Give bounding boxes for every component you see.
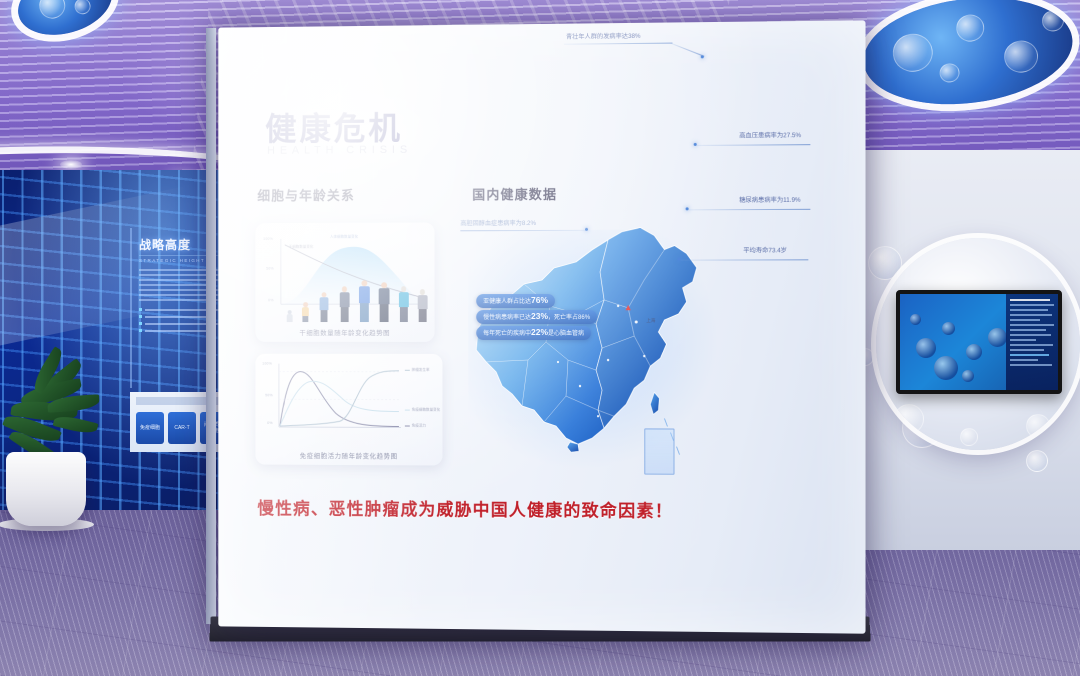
map-city-label: 上海: [646, 318, 655, 324]
callout-leader-line: [564, 43, 673, 45]
figure-elderly: [416, 289, 429, 322]
exhibit-board: 健康危机 HEALTH CRISIS 细胞与年龄关系 国内健康数据: [218, 20, 865, 633]
callout-top-incidence: 青壮年人群的发病率达38%: [566, 31, 641, 41]
callout-anchor-dot: [686, 207, 689, 210]
callout-anchor-dot: [585, 228, 588, 231]
legend-swatch-icon: [405, 425, 410, 427]
figure-senior: [397, 286, 410, 322]
chart2-ytick-2: 0%: [267, 421, 272, 425]
chart2-ytick-0: 100%: [262, 362, 272, 366]
exhibition-hall-photo: 战略高度 STRATEGIC HEIGHT 免疫细胞 CAR-T 间充质干细胞: [0, 0, 1080, 676]
callout-lifespan: 平均寿命73.4岁: [743, 245, 787, 254]
chart2-legend-1: 免疫细胞数量变化: [405, 408, 440, 413]
callout-anchor-dot: [694, 143, 697, 146]
page-subtitle: HEALTH CRISIS: [267, 144, 412, 157]
figure-youth: [338, 286, 351, 322]
callout-leader-line: [670, 43, 704, 57]
plant-pot: [6, 452, 86, 526]
south-china-sea-inset: [644, 428, 674, 474]
section-heading-health-data: 国内健康数据: [472, 184, 557, 203]
section-heading-cell-age: 细胞与年龄关系: [257, 185, 355, 204]
callout-hypertension: 高血压患病率为27.5%: [739, 130, 801, 140]
callout-anchor-dot: [678, 258, 681, 261]
callout-diabetes: 糖尿病患病率为11.9%: [739, 195, 800, 204]
left-tile-0: 免疫细胞: [136, 412, 164, 444]
callout-leader-line: [697, 144, 811, 146]
figure-infant: [285, 310, 294, 322]
china-map: 上海 亚健康人群占比达76% 慢性病患病率已达23%，死亡率占86% 每年死亡的…: [458, 209, 729, 491]
chart1-ytick-1: 50%: [266, 267, 274, 271]
wall-screen[interactable]: [896, 290, 1062, 394]
map-pill-2: 每年死亡的疾病中22%是心脑血管病: [476, 326, 591, 340]
chart-immune-vitality-age: 100% 50% 0% 肿瘤发生率 免疫细胞数量变化 免疫活力 免疫细胞活力随年…: [255, 354, 442, 466]
figure-adult: [357, 280, 371, 322]
bullet-dot-icon: [139, 308, 142, 311]
chart2-legend-0: 肿瘤发生率: [405, 368, 430, 373]
wall-screen-side-panel: [1006, 294, 1058, 390]
chart1-ytick-0: 100%: [263, 237, 273, 241]
chart1-peak-label: 人体细胞数量变化: [330, 235, 358, 240]
chart2-caption: 免疫细胞活力随年龄变化趋势图: [255, 450, 442, 461]
downlight: [60, 160, 82, 169]
legend-swatch-icon: [405, 409, 410, 411]
board-left-edge: [206, 28, 216, 624]
map-pill-1: 慢性病患病率已达23%，死亡率占86%: [476, 310, 597, 324]
left-tile-1: CAR-T: [168, 412, 196, 444]
callout-cholesterol: 高胆固醇血症患病率为8.2%: [460, 218, 536, 227]
chart-stem-cell-age: 100% 50% 0% 干细胞数量变化 人体细胞数量变化: [255, 222, 434, 342]
callout-leader-line: [689, 209, 811, 211]
map-pill-0: 亚健康人群占比达76%: [476, 294, 555, 308]
figure-middle-age: [377, 282, 391, 322]
bullet-dot-icon: [139, 315, 142, 318]
china-map-svg: [458, 209, 729, 491]
callout-leader-line: [681, 259, 809, 260]
legend-swatch-icon: [405, 369, 410, 371]
chart2-legend-2: 免疫活力: [405, 424, 426, 429]
bullet-dot-icon: [139, 322, 142, 325]
chart1-ytick-2: 0%: [268, 298, 273, 302]
page-title: 健康危机: [265, 103, 403, 150]
headline-text: 慢性病、恶性肿瘤成为威胁中国人健康的致命因素！: [257, 494, 816, 523]
figure-child: [300, 302, 310, 322]
figure-teen: [318, 292, 330, 322]
callout-anchor-dot: [701, 55, 704, 58]
chart1-caption: 干细胞数量随年龄变化趋势图: [255, 327, 434, 337]
bullet-dot-icon: [139, 329, 142, 332]
chart2-ytick-1: 50%: [265, 393, 273, 397]
chart1-series-label: 干细胞数量变化: [289, 245, 314, 250]
right-circular-display: [876, 238, 1080, 450]
